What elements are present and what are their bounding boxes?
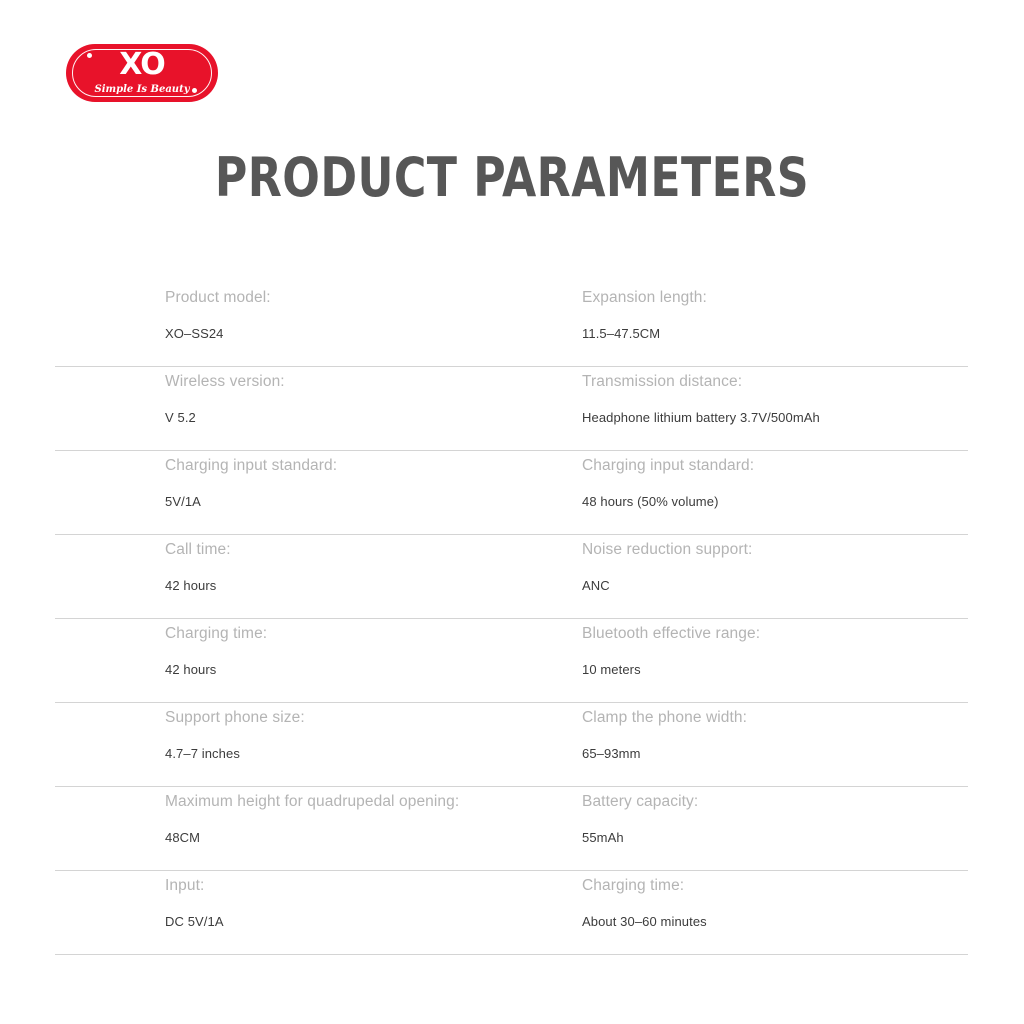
spec-value: XO–SS24 <box>165 327 540 340</box>
table-row: Maximum height for quadrupedal opening: … <box>55 787 968 871</box>
table-row: Wireless version: V 5.2 Transmission dis… <box>55 367 968 451</box>
spec-value: 5V/1A <box>165 495 540 508</box>
xo-brand-logo: XO Simple Is Beauty <box>66 44 218 102</box>
spec-value: V 5.2 <box>165 411 540 424</box>
spec-cell-right: Charging input standard: 48 hours (50% v… <box>540 458 968 534</box>
logo-tagline: Simple Is Beauty <box>66 85 218 95</box>
spec-value: 11.5–47.5CM <box>582 327 968 340</box>
spec-label: Wireless version: <box>165 374 540 390</box>
spec-table: Product model: XO–SS24 Expansion length:… <box>55 283 968 955</box>
spec-cell-left: Charging input standard: 5V/1A <box>55 458 540 534</box>
spec-label: Input: <box>165 878 540 894</box>
spec-cell-left: Charging time: 42 hours <box>55 626 540 702</box>
spec-cell-left: Input: DC 5V/1A <box>55 878 540 954</box>
spec-cell-right: Transmission distance: Headphone lithium… <box>540 374 968 450</box>
spec-value: Headphone lithium battery 3.7V/500mAh <box>582 411 968 424</box>
spec-label: Charging input standard: <box>582 458 968 474</box>
spec-value: 55mAh <box>582 831 968 844</box>
spec-label: Call time: <box>165 542 540 558</box>
table-row: Product model: XO–SS24 Expansion length:… <box>55 283 968 367</box>
spec-cell-left: Wireless version: V 5.2 <box>55 374 540 450</box>
spec-label: Expansion length: <box>582 290 968 306</box>
logo-pill-shape: XO Simple Is Beauty <box>66 44 218 102</box>
table-row: Call time: 42 hours Noise reduction supp… <box>55 535 968 619</box>
table-row: Charging time: 42 hours Bluetooth effect… <box>55 619 968 703</box>
spec-label: Transmission distance: <box>582 374 968 390</box>
spec-value: About 30–60 minutes <box>582 915 968 928</box>
spec-cell-left: Maximum height for quadrupedal opening: … <box>55 794 540 870</box>
table-row: Charging input standard: 5V/1A Charging … <box>55 451 968 535</box>
spec-label: Product model: <box>165 290 540 306</box>
spec-cell-right: Expansion length: 11.5–47.5CM <box>540 290 968 366</box>
product-parameters-page: XO Simple Is Beauty PRODUCT PARAMETERS P… <box>0 0 1024 1024</box>
table-row: Support phone size: 4.7–7 inches Clamp t… <box>55 703 968 787</box>
spec-label: Charging input standard: <box>165 458 540 474</box>
spec-value: 4.7–7 inches <box>165 747 540 760</box>
spec-cell-left: Call time: 42 hours <box>55 542 540 618</box>
spec-value: ANC <box>582 579 968 592</box>
spec-value: 42 hours <box>165 663 540 676</box>
spec-cell-right: Bluetooth effective range: 10 meters <box>540 626 968 702</box>
spec-label: Charging time: <box>582 878 968 894</box>
spec-label: Charging time: <box>165 626 540 642</box>
spec-cell-left: Product model: XO–SS24 <box>55 290 540 366</box>
spec-label: Battery capacity: <box>582 794 968 810</box>
spec-value: 65–93mm <box>582 747 968 760</box>
spec-value: 42 hours <box>165 579 540 592</box>
spec-label: Noise reduction support: <box>582 542 968 558</box>
page-title: PRODUCT PARAMETERS <box>92 150 932 207</box>
spec-value: 10 meters <box>582 663 968 676</box>
spec-cell-right: Charging time: About 30–60 minutes <box>540 878 968 954</box>
spec-label: Maximum height for quadrupedal opening: <box>165 794 540 810</box>
spec-label: Bluetooth effective range: <box>582 626 968 642</box>
spec-label: Clamp the phone width: <box>582 710 968 726</box>
table-row: Input: DC 5V/1A Charging time: About 30–… <box>55 871 968 955</box>
spec-value: DC 5V/1A <box>165 915 540 928</box>
logo-wordmark: XO <box>66 50 218 80</box>
spec-value: 48 hours (50% volume) <box>582 495 968 508</box>
spec-value: 48CM <box>165 831 540 844</box>
spec-cell-right: Battery capacity: 55mAh <box>540 794 968 870</box>
spec-cell-right: Noise reduction support: ANC <box>540 542 968 618</box>
spec-label: Support phone size: <box>165 710 540 726</box>
spec-cell-left: Support phone size: 4.7–7 inches <box>55 710 540 786</box>
spec-cell-right: Clamp the phone width: 65–93mm <box>540 710 968 786</box>
